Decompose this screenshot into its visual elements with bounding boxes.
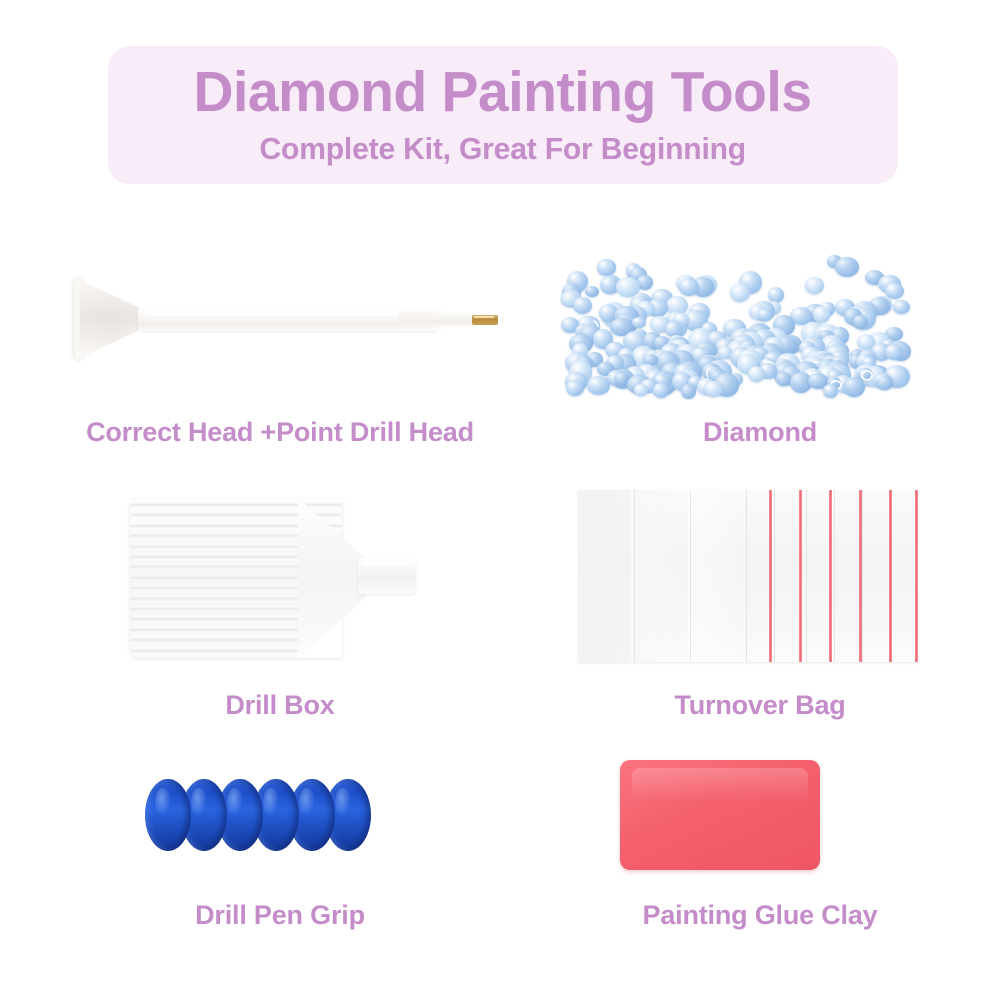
turnover-bag-zip-line (829, 490, 832, 662)
product-cell-correction-pen: Correct Head +Point Drill Head (20, 240, 540, 470)
pen-barrel-highlight (145, 311, 430, 316)
diamond-drill (587, 376, 610, 395)
turnover-bag-fold (806, 490, 807, 662)
product-cell-diamond: Diamond (540, 240, 980, 470)
turnover-bag-zip-line (915, 490, 918, 662)
glue-clay-highlight (632, 768, 808, 802)
diamond-drill (835, 257, 859, 277)
drill-box-groove (130, 648, 342, 653)
pen-head-flare-shading (80, 280, 142, 358)
turnover-bag-fold (774, 490, 775, 662)
product-label-painting-glue-clay: Painting Glue Clay (540, 900, 980, 931)
product-label-drill-box: Drill Box (20, 690, 540, 721)
turnover-bag-panel (688, 490, 750, 662)
turnover-bag-fold (834, 490, 835, 662)
product-cell-drill-box: Drill Box (20, 490, 540, 740)
correction-pen-image (20, 240, 540, 400)
drill-pen-grip-body (145, 770, 395, 875)
drill-box-groove (130, 502, 342, 507)
turnover-bag-stack (578, 490, 918, 662)
pen-gold-tip-highlight (474, 316, 494, 318)
diamond-drill (885, 344, 903, 360)
diamond-drill (566, 380, 584, 396)
diamond-drill (653, 383, 670, 398)
glue-clay-block (620, 760, 820, 870)
diamond-drill (585, 286, 599, 298)
turnover-bag-fold (690, 490, 691, 662)
page-title: Diamond Painting Tools (194, 63, 812, 123)
diamond-drill (893, 300, 910, 314)
drill-box-spout-highlight (362, 562, 410, 566)
page-subtitle: Complete Kit, Great For Beginning (260, 130, 746, 167)
infographic-page: Diamond Painting Tools Complete Kit, Gre… (0, 0, 1000, 1000)
diamond-drill (853, 315, 869, 328)
diamond-drill (813, 306, 831, 323)
diamond-drills-image (560, 240, 920, 400)
product-label-diamond: Diamond (540, 417, 980, 448)
turnover-bag-fold (862, 490, 863, 662)
drill-pen-grip-segment (145, 779, 191, 851)
diamond-drill (730, 283, 750, 302)
diamond-drill (634, 384, 648, 397)
diamond-drills-pile (560, 240, 920, 400)
header-banner: Diamond Painting Tools Complete Kit, Gre… (108, 46, 898, 184)
turnover-bag-zip-line (769, 490, 772, 662)
diamond-drill (823, 384, 839, 398)
product-label-drill-pen-grip: Drill Pen Grip (20, 900, 540, 931)
product-label-correction-pen: Correct Head +Point Drill Head (20, 417, 540, 448)
diamond-drill (885, 283, 904, 299)
turnover-bag-zip-line (799, 490, 802, 662)
diamond-drill (632, 317, 646, 329)
turnover-bag-zip-line (889, 490, 892, 662)
turnover-bag-fold (746, 490, 747, 662)
drill-pen-grip-image (145, 770, 395, 875)
turnover-bag-zip-line (859, 490, 862, 662)
diamond-drill (573, 297, 592, 314)
diamond-drill (748, 366, 765, 382)
diamond-drill (704, 381, 723, 396)
product-cell-painting-glue-clay: Painting Glue Clay (540, 760, 980, 960)
diamond-drill (597, 259, 617, 276)
product-label-turnover-bag: Turnover Bag (540, 690, 980, 721)
turnover-bag-panel (630, 490, 688, 662)
diamond-drill (758, 309, 772, 321)
diamond-drill (877, 376, 892, 390)
drill-box-image (130, 490, 430, 665)
diamond-drill (805, 277, 825, 294)
turnover-bag-fold (634, 490, 635, 662)
turnover-bag-panel (578, 490, 630, 662)
product-cell-drill-pen-grip: Drill Pen Grip (20, 760, 540, 960)
diamond-drill (681, 384, 697, 399)
painting-glue-clay-image (620, 760, 820, 878)
turnover-bag-image (578, 490, 918, 662)
product-cell-turnover-bag: Turnover Bag (540, 490, 980, 740)
diamond-drill (843, 377, 865, 398)
